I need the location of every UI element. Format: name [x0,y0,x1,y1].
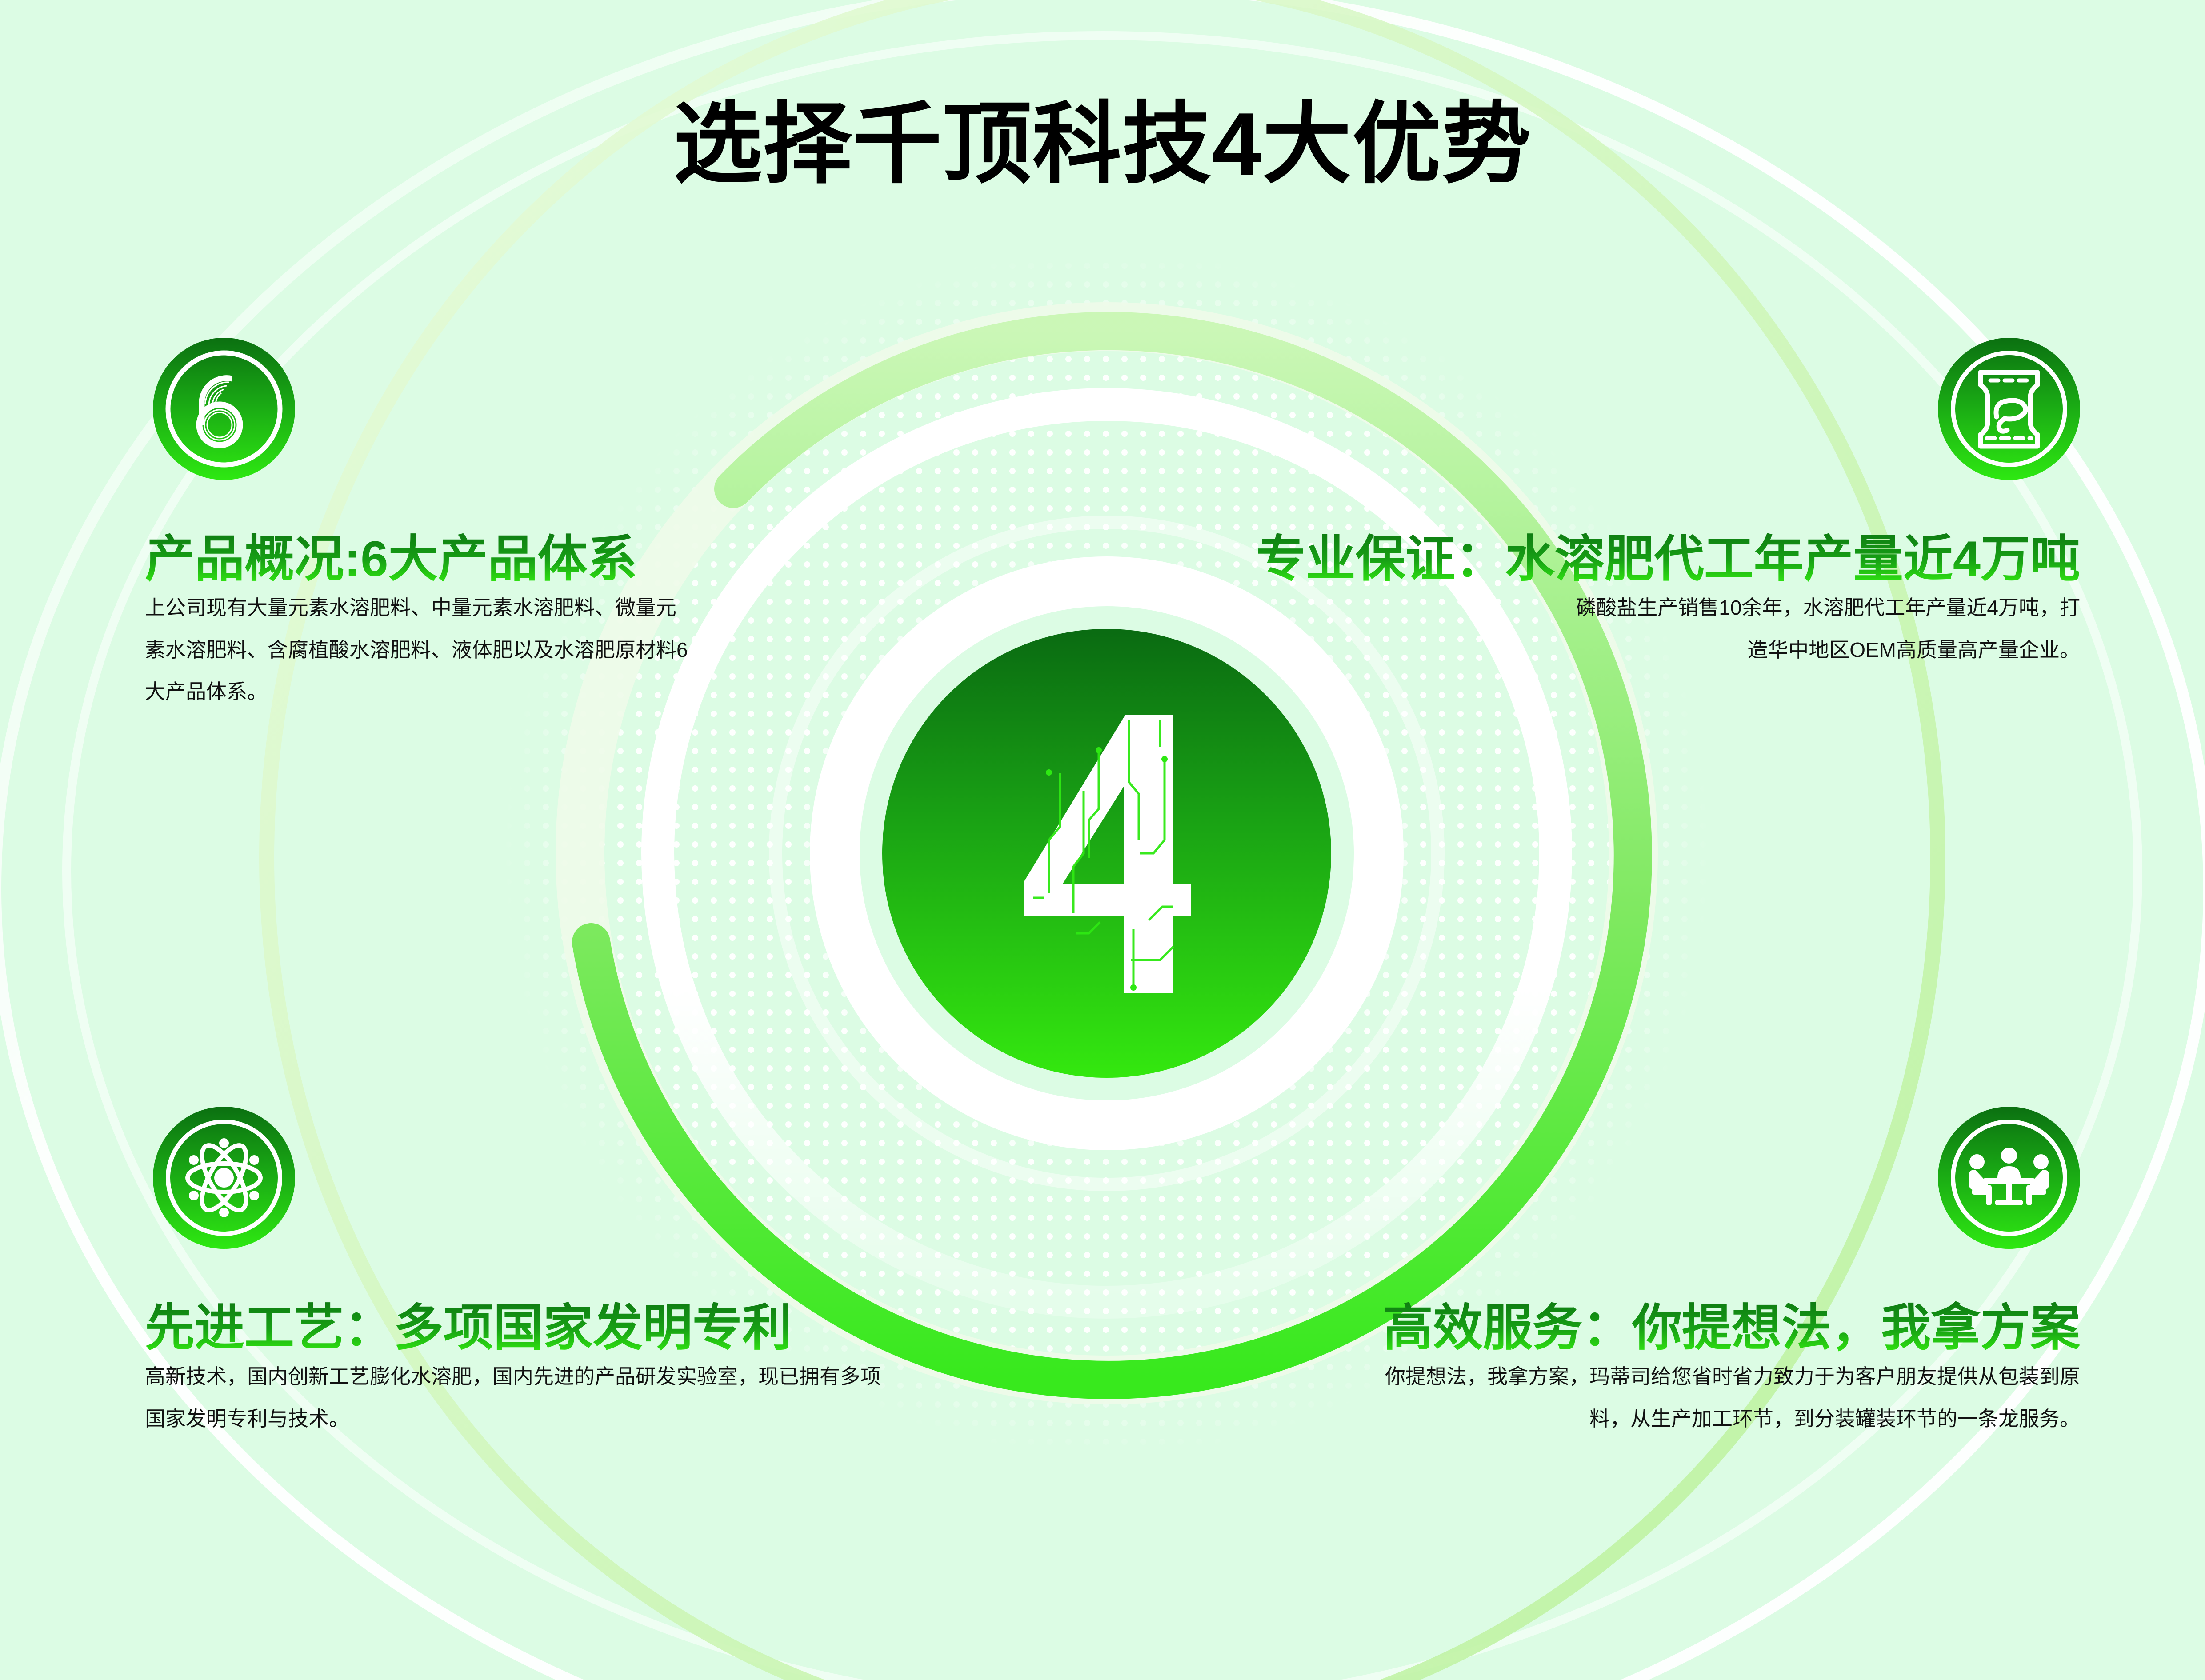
advantage-text-top-left: 产品概况:6大产品体系 上公司现有大量元素水溶肥料、中量元素水溶肥料、微量元素水… [142,531,693,712]
center-number-badge [882,629,1331,1078]
advantage-body: 上公司现有大量元素水溶肥料、中量元素水溶肥料、微量元素水溶肥料、含腐植酸水溶肥料… [145,587,693,712]
advantage-body: 你提想法，我拿方案，玛蒂司给您省时省力致力于为客户朋友提供从包装到原料，从生产加… [1373,1356,2080,1440]
advantage-heading: 先进工艺：多项国家发明专利 [145,1300,898,1356]
advantage-text-bottom-right: 高效服务：你提想法，我拿方案 你提想法，我拿方案，玛蒂司给您省时省力致力于为客户… [1325,1300,2080,1440]
atom-icon [153,1107,295,1249]
advantage-text-top-right: 专业保证：水溶肥代工年产量近4万吨 磷酸盐生产销售10余年，水溶肥代工年产量近4… [1196,531,2080,671]
advantage-heading: 产品概况:6大产品体系 [145,531,693,587]
infographic-canvas: 选择千顶科技4大优势 [0,0,2205,1680]
advantage-body: 磷酸盐生产销售10余年，水溶肥代工年产量近4万吨，打造华中地区OEM高质量高产量… [1565,587,2080,671]
advantage-text-bottom-left: 先进工艺：多项国家发明专利 高新技术，国内创新工艺膨化水溶肥，国内先进的产品研发… [142,1300,898,1440]
advantage-heading: 专业保证：水溶肥代工年产量近4万吨 [1196,531,2080,587]
advantage-heading: 高效服务：你提想法，我拿方案 [1325,1300,2080,1356]
meeting-people-icon [1938,1107,2080,1249]
number-six-badge-icon [153,338,295,480]
advantage-body: 高新技术，国内创新工艺膨化水溶肥，国内先进的产品研发实验室，现已拥有多项国家发明… [145,1356,898,1440]
fertilizer-bag-icon [1938,338,2080,480]
page-title: 选择千顶科技4大优势 [0,100,2205,189]
center-number-graphic [982,707,1231,1000]
